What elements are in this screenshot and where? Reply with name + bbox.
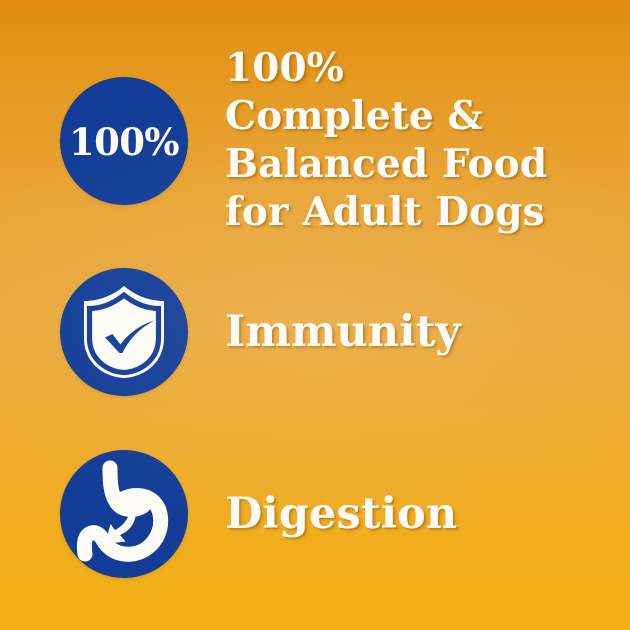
feature-row-complete-balanced: 100% 100% Complete & Balanced Food for A… (0, 77, 630, 205)
feature-label-digestion: Digestion (188, 493, 630, 536)
percent-100-label: 100% (69, 124, 179, 161)
benefits-panel: 100% 100% Complete & Balanced Food for A… (0, 0, 630, 630)
feature-row-digestion: Digestion (0, 450, 630, 578)
feature-row-immunity: Immunity (0, 268, 630, 396)
feature-label-immunity: Immunity (188, 311, 630, 354)
percent-100-badge-icon: 100% (60, 77, 188, 205)
stomach-arrow-icon (60, 450, 188, 578)
feature-label-complete-balanced: 100% Complete & Balanced Food for Adult … (188, 44, 580, 236)
shield-check-icon (60, 268, 188, 396)
